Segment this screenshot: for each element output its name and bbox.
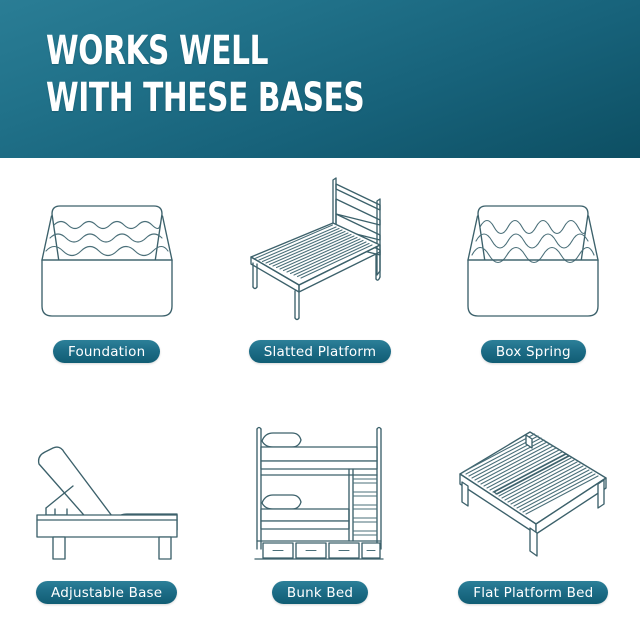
title-line-1: WORKS WELL [46, 28, 268, 74]
page-title: WORKS WELL WITH THESE BASES [46, 28, 364, 122]
bunk-bed-icon [225, 411, 415, 571]
base-card-foundation[interactable]: Foundation [0, 158, 213, 399]
base-label-flat-platform[interactable]: Flat Platform Bed [458, 581, 608, 604]
base-label-bunk-bed[interactable]: Bunk Bed [272, 581, 368, 604]
base-label-adjustable-base[interactable]: Adjustable Base [36, 581, 177, 604]
base-card-adjustable-base[interactable]: Adjustable Base [0, 399, 213, 640]
box-spring-icon [438, 170, 628, 330]
adjustable-base-icon [12, 411, 202, 571]
base-card-box-spring[interactable]: Box Spring [427, 158, 640, 399]
base-label-slatted-platform[interactable]: Slatted Platform [249, 340, 391, 363]
bases-grid: Foundation [0, 158, 640, 640]
title-line-2: WITH THESE BASES [46, 75, 364, 121]
base-card-flat-platform[interactable]: Flat Platform Bed [427, 399, 640, 640]
flat-platform-bed-icon [438, 411, 628, 571]
header-banner: WORKS WELL WITH THESE BASES [0, 0, 640, 158]
base-label-box-spring[interactable]: Box Spring [481, 340, 586, 363]
base-label-foundation[interactable]: Foundation [53, 340, 160, 363]
base-card-bunk-bed[interactable]: Bunk Bed [213, 399, 426, 640]
base-card-slatted-platform[interactable]: Slatted Platform [213, 158, 426, 399]
slatted-platform-bed-icon [225, 170, 415, 330]
mattress-foundation-icon [12, 170, 202, 330]
